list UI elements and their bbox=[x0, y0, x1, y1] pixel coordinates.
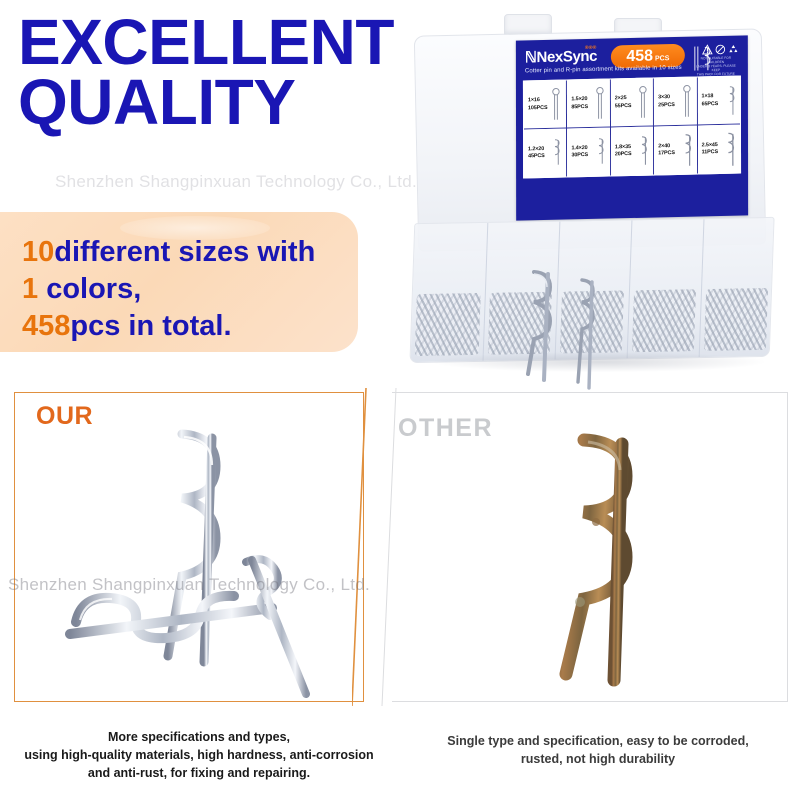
info-line-sizes: 10different sizes with bbox=[22, 236, 315, 269]
r-clip-icon bbox=[636, 133, 650, 169]
size-cell: 3×3025PCS bbox=[654, 78, 697, 127]
other-caption: Single type and specification, easy to b… bbox=[404, 732, 792, 768]
size-cell-label: 2×2555PCS bbox=[611, 95, 632, 110]
size-grid-row: 1.2×2045PCS 1.4×2030PCS 1.8×3520PCS 2×40… bbox=[524, 125, 740, 178]
size-cell-label: 1.4×2030PCS bbox=[567, 145, 588, 160]
product-marketing-image: EXCELLENT QUALITY Shenzhen Shangpinxuan … bbox=[0, 0, 800, 800]
our-label: OUR bbox=[36, 402, 93, 431]
cotter-pin-icon bbox=[636, 85, 650, 121]
size-cell-label: 2.5×4511PCS bbox=[698, 142, 718, 157]
size-cell: 1×16105PCS bbox=[524, 80, 567, 129]
size-cell-label: 3×3025PCS bbox=[654, 94, 675, 109]
page-title: EXCELLENT QUALITY bbox=[18, 12, 394, 132]
symbol-icon-row bbox=[693, 44, 739, 56]
r-clip-icon bbox=[680, 132, 694, 168]
other-label: OTHER bbox=[398, 414, 493, 443]
clip-pile bbox=[632, 289, 696, 352]
size-cell: 2×2555PCS bbox=[611, 78, 654, 127]
size-cell: 2.5×4511PCS bbox=[698, 125, 740, 174]
product-box-photo: ℕNexSync ®®® 458 PCS Cotter pin and R-pi… bbox=[408, 8, 800, 388]
cotter-pin-icon bbox=[593, 86, 607, 122]
our-caption: More specifications and types, using hig… bbox=[14, 728, 384, 782]
prohibition-icon bbox=[715, 44, 726, 55]
loose-r-clip-large-icon bbox=[504, 256, 568, 386]
size-cell: 1.2×2045PCS bbox=[524, 128, 567, 177]
total-count: 458 bbox=[22, 310, 70, 342]
cotter-pin-icon bbox=[549, 87, 563, 123]
brand-pin-icon: ℕ bbox=[525, 49, 537, 66]
cotter-pin-icon bbox=[680, 84, 694, 120]
size-cell: 1.5×2085PCS bbox=[567, 79, 610, 128]
loose-r-clip-small-icon bbox=[560, 270, 610, 392]
badge-count: 458 bbox=[626, 47, 653, 66]
sizes-text: different sizes with bbox=[54, 236, 315, 268]
total-text: pcs in total. bbox=[70, 310, 231, 342]
size-cell-label: 1×1865PCS bbox=[698, 93, 719, 108]
size-cell-label: 1.2×2045PCS bbox=[524, 146, 545, 161]
label-subtitle: Cotter pin and R-pin assortment kits ava… bbox=[525, 65, 682, 75]
warning-triangle-icon bbox=[702, 44, 713, 55]
size-cell-label: 2×4017PCS bbox=[654, 143, 675, 158]
sizes-count: 10 bbox=[22, 236, 54, 268]
size-cell: 1×1865PCS bbox=[698, 77, 740, 126]
badge-unit: PCS bbox=[655, 50, 669, 62]
watermark-top: Shenzhen Shangpinxuan Technology Co., Lt… bbox=[55, 172, 417, 192]
size-cell: 1.8×3520PCS bbox=[611, 126, 654, 175]
colors-count: 1 bbox=[22, 273, 38, 305]
info-line-total: 458pcs in total. bbox=[22, 310, 232, 343]
size-cell-label: 1×16105PCS bbox=[524, 97, 548, 112]
r-clip-icon bbox=[593, 134, 607, 170]
colors-text: colors, bbox=[38, 273, 141, 305]
recycle-icon bbox=[728, 44, 739, 55]
r-clip-icon bbox=[723, 131, 737, 167]
size-cell-label: 1.5×2085PCS bbox=[567, 96, 588, 111]
product-label: ℕNexSync ®®® 458 PCS Cotter pin and R-pi… bbox=[516, 35, 748, 220]
other-rusty-r-clip-icon bbox=[536, 402, 716, 702]
clip-pile bbox=[704, 288, 768, 351]
size-cell-label: 1.8×3520PCS bbox=[611, 144, 632, 159]
our-r-clip-diagonal-icon bbox=[182, 546, 342, 716]
size-cell: 2×4017PCS bbox=[654, 126, 697, 175]
size-grid: 1×16105PCS 1.5×2085PCS 2×2555PCS 3×3025P… bbox=[523, 76, 741, 179]
brand-trademark: ®®® bbox=[585, 45, 597, 51]
info-panel: 10different sizes with 1 colors, 458pcs … bbox=[0, 212, 358, 352]
info-line-colors: 1 colors, bbox=[22, 273, 141, 306]
r-clip-icon bbox=[549, 135, 563, 171]
size-cell: 1.4×2030PCS bbox=[567, 127, 610, 176]
size-grid-row: 1×16105PCS 1.5×2085PCS 2×2555PCS 3×3025P… bbox=[524, 77, 740, 130]
r-clip-icon bbox=[723, 83, 737, 119]
clip-pile bbox=[415, 293, 481, 356]
